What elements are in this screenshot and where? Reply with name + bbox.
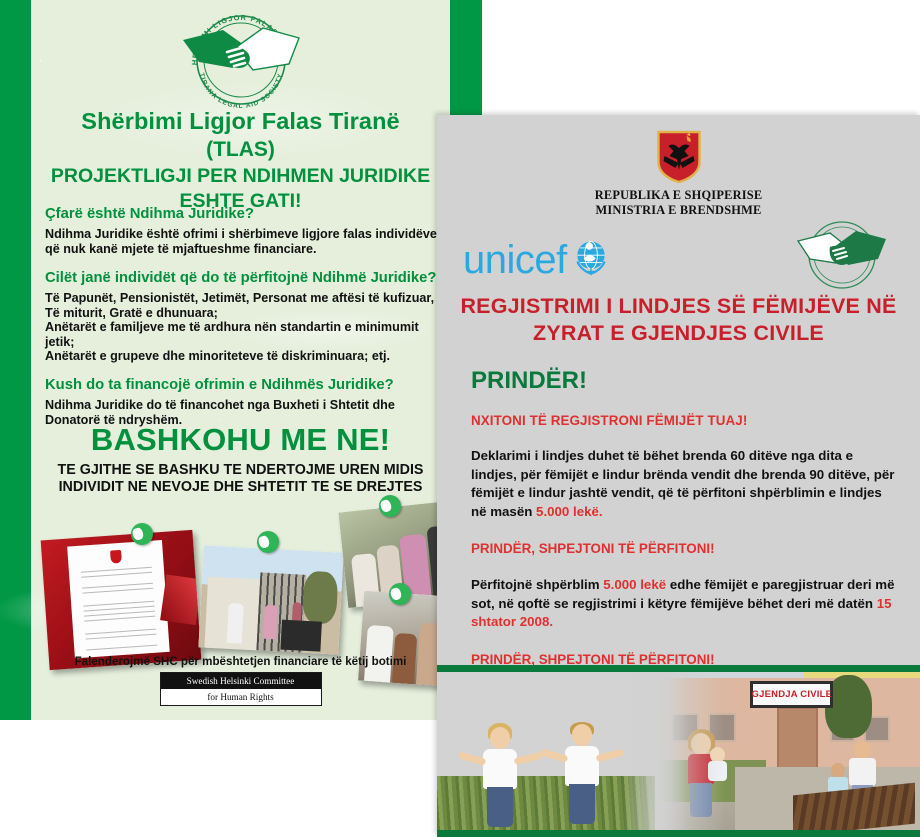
red-call-1: NXITONI TË REGJISTRONI FËMIJËT TUAJ!	[471, 413, 896, 428]
pin-icon	[389, 583, 411, 605]
tlas-handshake-logo-icon: SHERBIMI LIGJOR FALAS TIRANE TIRANA LEGA…	[177, 6, 305, 110]
ministry-line1: REPUBLIKA E SHQIPERISE	[437, 188, 920, 203]
shc-logo: Swedish Helsinki Committee for Human Rig…	[160, 672, 322, 706]
child-girl-figure	[483, 749, 517, 789]
faq-heading-3: Kush do ta financojë ofrimin e Ndihmës J…	[45, 377, 442, 393]
unicef-logo: unicef	[463, 237, 611, 282]
ministry-heading: REPUBLIKA E SHQIPERISE MINISTRIA E BREND…	[437, 188, 920, 218]
paragraph-1-text: Deklarimi i lindjes duhet të bëhet brend…	[471, 448, 894, 519]
parents-heading: PRINDËR!	[471, 367, 896, 395]
paragraph-2-text-a: Përfitojnë shpërblim	[471, 577, 603, 592]
unicef-globe-icon	[571, 237, 611, 282]
pin-icon	[257, 531, 279, 553]
logo-ring-bottom-text: TIRANA LEGAL AID SOCIETY	[197, 72, 284, 110]
faq-body-2: Të Papunët, Pensionistët, Jetimët, Perso…	[45, 291, 442, 364]
strip-bottom-green-rule	[437, 830, 920, 837]
albanian-coat-of-arms-icon	[656, 130, 701, 184]
red-call-2: PRINDËR, SHPEJTONI TË PËRFITONI!	[471, 541, 896, 556]
poster-main-title: REGJISTRIMI I LINDJES SË FËMIJËVE NË ZYR…	[437, 293, 920, 347]
paragraph-2-amount: 5.000 lekë	[603, 577, 666, 592]
svg-text:TIRANA LEGAL AID SOCIETY: TIRANA LEGAL AID SOCIETY	[197, 72, 284, 110]
funding-credit-text: Falenderojmë SHC për mbështetjen financi…	[31, 655, 450, 668]
gjendja-civile-sign-text: GJENDJA CIVILE	[752, 689, 833, 700]
faq-body-1: Ndihma Juridike është ofrimi i shërbimev…	[45, 227, 442, 257]
poster-title-line2: (TLAS)	[31, 138, 450, 162]
paragraph-1-amount: 5.000 lekë.	[536, 504, 603, 519]
left-green-edge-bar	[0, 0, 31, 720]
tlas-handshake-logo-icon	[794, 215, 890, 295]
poster-title-line3-a: PROJEKTLIGJI PER NDIHMEN JURIDIKE	[31, 164, 450, 189]
draft-law-document-photo	[41, 530, 202, 670]
shc-logo-line1: Swedish Helsinki Committee	[161, 673, 321, 689]
photo-blend-gradient	[623, 672, 687, 830]
pin-icon	[131, 523, 153, 545]
bottom-photo-strip: GJENDJA CIVILE	[437, 665, 920, 837]
photo-collage	[31, 505, 450, 665]
pin-icon	[379, 495, 401, 517]
shc-logo-line2: for Human Rights	[161, 689, 321, 705]
call-to-action-subtext: TE GJITHE SE BASHKU TE NDERTOJME UREN MI…	[31, 462, 450, 496]
call-to-action-headline: BASHKOHU ME NE!	[31, 422, 450, 458]
gate-fieldwork-photo	[198, 545, 343, 654]
gjendja-civile-sign: GJENDJA CIVILE	[750, 681, 833, 708]
faq-heading-1: Çfarë është Ndihma Juridike?	[45, 206, 442, 222]
tlas-leaflet-panel: SHERBIMI LIGJOR FALAS TIRANE TIRANA LEGA…	[0, 0, 482, 720]
child-boy-figure	[565, 746, 599, 786]
strip-top-green-rule	[437, 665, 920, 672]
faq-heading-2: Cilët janë individët që do të përfitojnë…	[45, 270, 442, 286]
poster-title-line1: Shërbimi Ligjor Falas Tiranë	[31, 108, 450, 135]
poster-main-title-line1: REGJISTRIMI I LINDJES SË FËMIJËVE NË	[437, 293, 920, 320]
paragraph-2: Përfitojnë shpërblim 5.000 lekë edhe fëm…	[471, 576, 896, 632]
paragraph-1: Deklarimi i lindjes duhet të bëhet brend…	[471, 447, 896, 521]
leaflet-faq-body: Çfarë është Ndihma Juridike? Ndihma Juri…	[45, 206, 442, 441]
poster-main-title-line2: ZYRAT E GJENDJES CIVILE	[437, 320, 920, 347]
birth-registration-poster-panel: REPUBLIKA E SHQIPERISE MINISTRIA E BREND…	[437, 115, 920, 837]
unicef-wordmark: unicef	[463, 240, 567, 280]
civil-registry-office-photo: GJENDJA CIVILE	[655, 672, 920, 830]
